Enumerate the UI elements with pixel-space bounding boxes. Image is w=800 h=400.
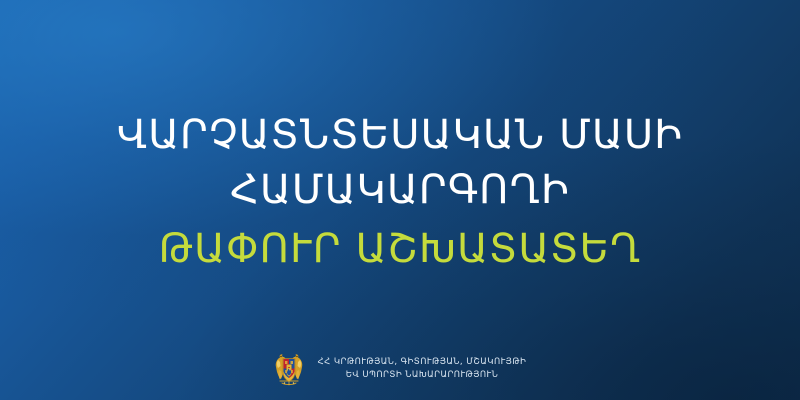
ministry-name-line-1: ՀՀ ԿՐԹՈՒԹՅԱՆ, ԳԻՏՈՒԹՅԱՆ, ՄՇԱԿՈՒՅԹԻ xyxy=(318,357,527,368)
banner-title: ՎԱՐՉԱՏՆՏԵՍԱԿԱՆ ՄԱՍԻ ՀԱՄԱԿԱՐԳՈՂԻ ԹԱՓՈՒՐ Ա… xyxy=(0,108,800,277)
banner-footer: ՀՀ ԿՐԹՈՒԹՅԱՆ, ԳԻՏՈՒԹՅԱՆ, ՄՇԱԿՈՒՅԹԻ ԵՎ ՍՊ… xyxy=(0,346,800,392)
title-line-2: ՀԱՄԱԿԱՐԳՈՂԻ xyxy=(0,163,800,218)
ministry-name: ՀՀ ԿՐԹՈՒԹՅԱՆ, ԳԻՏՈՒԹՅԱՆ, ՄՇԱԿՈՒՅԹԻ ԵՎ ՍՊ… xyxy=(318,357,527,381)
announcement-banner: ՎԱՐՉԱՏՆՏԵՍԱԿԱՆ ՄԱՍԻ ՀԱՄԱԿԱՐԳՈՂԻ ԹԱՓՈՒՐ Ա… xyxy=(0,0,800,400)
armenian-coat-of-arms-icon xyxy=(274,352,304,386)
title-line-3-highlight: ԹԱՓՈՒՐ ԱՇԽԱՏԱՏԵՂ xyxy=(0,222,800,277)
title-line-1: ՎԱՐՉԱՏՆՏԵՍԱԿԱՆ ՄԱՍԻ xyxy=(0,108,800,163)
ministry-name-line-2: ԵՎ ՍՊՈՐՏԻ ՆԱԽԱՐԱՐՈՒԹՅՈՒՆ xyxy=(346,370,498,381)
